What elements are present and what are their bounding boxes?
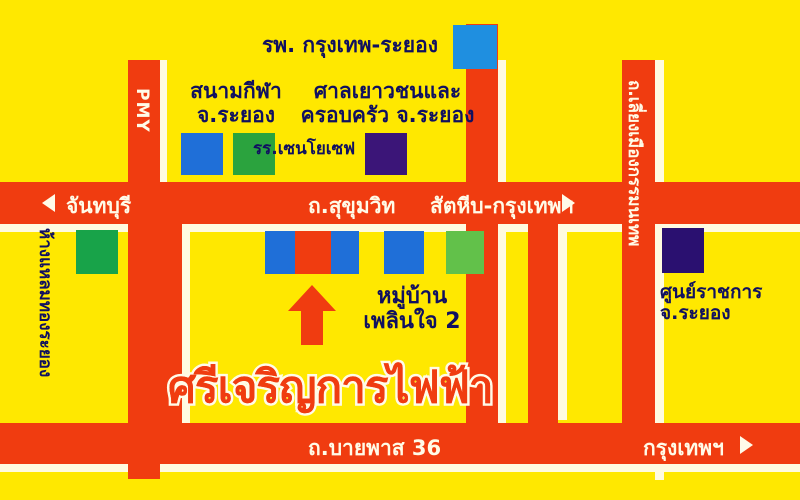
arrow-right-sattahip-icon bbox=[562, 194, 575, 212]
road-shadow-midvert bbox=[558, 230, 567, 420]
block-blue-village bbox=[384, 231, 424, 274]
block-green-village bbox=[446, 231, 484, 274]
shop-title-overlay: ศรีเจริญการไฟฟ้า bbox=[168, 352, 493, 422]
label-direction-bangkok-bottom: กรุงเทพฯ bbox=[643, 432, 724, 465]
up-arrow-svg bbox=[288, 285, 336, 345]
arrow-right-bangkok-icon bbox=[740, 436, 753, 454]
map-canvas: รพ. กรุงเทพ-ระยอง สนามกีฬา จ.ระยอง ศาลเย… bbox=[0, 0, 800, 500]
block-blue-stadium bbox=[181, 133, 223, 175]
label-rayong-stadium: สนามกีฬา จ.ระยอง bbox=[176, 80, 296, 127]
block-blue-hospital bbox=[453, 25, 497, 69]
arrow-left-chanthaburi-icon bbox=[42, 194, 55, 212]
label-road-bypass-36: ถ.บายพาส 36 bbox=[308, 432, 441, 465]
label-ploenjai-2-village: หมู่บ้าน เพลินใจ 2 bbox=[352, 285, 472, 334]
label-direction-chanthaburi: จันทบุรี bbox=[66, 190, 131, 223]
block-blue-left bbox=[265, 231, 295, 274]
block-green-mall bbox=[76, 230, 118, 274]
road-inner-right-vertical bbox=[528, 224, 558, 424]
label-rayong-government-center: ศูนย์ราชการ จ.ระยอง bbox=[660, 282, 762, 325]
label-road-pmy: PMY bbox=[132, 88, 152, 133]
label-bangkok-rayong-hospital: รพ. กรุงเทพ-ระยอง bbox=[262, 34, 438, 58]
block-blue-right bbox=[331, 231, 359, 274]
road-spur-south bbox=[128, 423, 160, 479]
label-rayong-juvenile-court: ศาลเยาวชนและ ครอบครัว จ.ระยอง bbox=[300, 80, 475, 127]
label-road-sukhumvit: ถ.สุขุมวิท bbox=[308, 190, 395, 223]
road-pmy bbox=[128, 60, 160, 224]
label-road-ring-right: ถ.เลี่ยงเมืองกรรมนเทพ bbox=[621, 80, 648, 246]
label-st-joseph-school: รร.เซนโยเซฟ bbox=[253, 140, 355, 159]
label-direction-sattahip-bangkok: สัตหีบ-กรุงเทพฯ bbox=[430, 190, 573, 223]
block-red-shop bbox=[295, 231, 331, 274]
block-purple-govt bbox=[662, 228, 704, 273]
road-shadow-center-vert bbox=[497, 60, 506, 470]
label-laem-thong-rayong-mall: ห้างแหลมทองระยอง bbox=[35, 228, 54, 377]
block-purple-court bbox=[365, 133, 407, 175]
shop-pointer-up-arrow-icon bbox=[288, 285, 336, 345]
